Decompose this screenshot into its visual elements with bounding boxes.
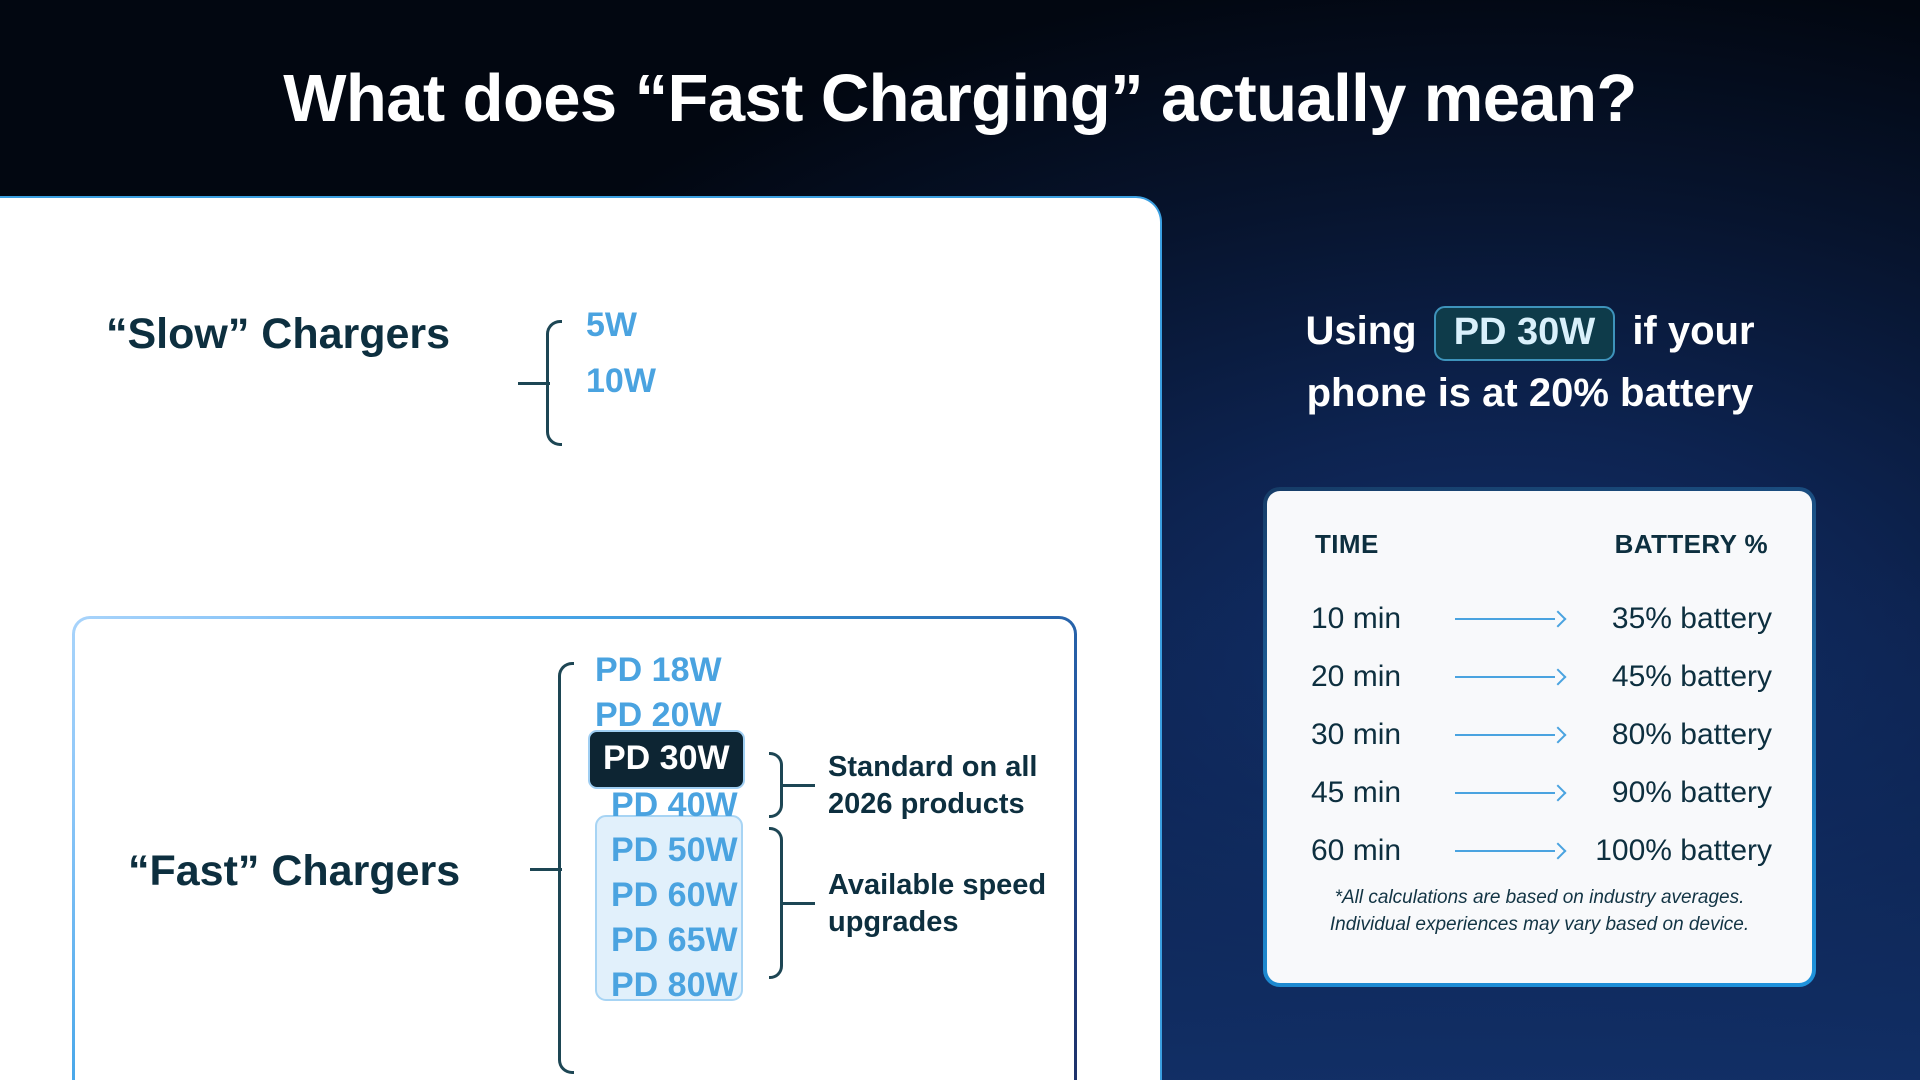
scenario-headline-line1: Using PD 30W if your: [1200, 300, 1860, 362]
arrow-right-icon: [1455, 670, 1564, 684]
list-item: 10W: [586, 364, 656, 398]
arrow-right-icon: [1455, 786, 1564, 800]
standard-note: Standard on all 2026 products: [828, 749, 1037, 823]
column-header-battery: BATTERY %: [1615, 529, 1768, 560]
standard-bracket-stem: [783, 784, 815, 787]
wattage-label: PD 80W: [611, 968, 738, 1002]
wattage-label: PD 50W: [611, 833, 738, 867]
list-item: PD 65W: [611, 917, 755, 962]
list-item: PD 80W: [611, 962, 755, 1007]
wattage-label: PD 60W: [611, 878, 738, 912]
cell-time: 60 min: [1311, 834, 1443, 868]
upgrades-note: Available speed upgrades: [828, 867, 1046, 941]
slow-bracket-icon: [546, 320, 562, 446]
table-row: 20 min 45% battery: [1305, 648, 1774, 706]
fast-chargers-card: “Fast” Chargers PD 18W PD 20W PD 30W PD …: [72, 616, 1077, 1080]
table-footnote: *All calculations are based on industry …: [1267, 884, 1812, 939]
slow-chargers-list: 5W 10W: [586, 308, 656, 420]
arrow-right-icon: [1455, 844, 1564, 858]
cell-time: 20 min: [1311, 660, 1443, 694]
slow-chargers-label: “Slow” Chargers: [106, 310, 450, 359]
upgrades-bracket-icon: [769, 827, 783, 979]
charge-time-table-card: TIME BATTERY % 10 min 35% battery 20 min…: [1263, 487, 1816, 987]
list-item: PD 40W: [611, 782, 755, 827]
table-row: 60 min 100% battery: [1305, 822, 1774, 880]
table-body: 10 min 35% battery 20 min 45% battery 30…: [1305, 590, 1774, 880]
pd-30w-chip: PD 30W: [1434, 306, 1615, 361]
cell-battery: 80% battery: [1576, 718, 1772, 752]
scenario-headline: Using PD 30W if your phone is at 20% bat…: [1200, 300, 1860, 424]
slow-chargers-group: “Slow” Chargers 5W 10W: [0, 258, 1154, 418]
fast-bracket-icon: [558, 662, 574, 1074]
list-item: 5W: [586, 308, 656, 342]
charge-time-table: TIME BATTERY % 10 min 35% battery 20 min…: [1267, 491, 1812, 983]
fast-chargers-label: “Fast” Chargers: [128, 847, 460, 896]
list-item: PD 18W: [595, 647, 755, 692]
table-row: 30 min 80% battery: [1305, 706, 1774, 764]
title-bar: What does “Fast Charging” actually mean?: [0, 0, 1920, 196]
arrow-right-icon: [1455, 728, 1564, 742]
standard-bracket-icon: [769, 752, 783, 818]
fast-chargers-list: PD 18W PD 20W PD 30W PD 40W PD 50W PD 60…: [595, 647, 755, 1007]
wattage-label: PD 18W: [595, 653, 722, 687]
cell-battery: 45% battery: [1576, 660, 1772, 694]
wattage-label: PD 40W: [611, 788, 738, 822]
list-item-highlighted: PD 30W: [595, 737, 755, 782]
pd-30w-pill: PD 30W: [588, 730, 745, 789]
scenario-headline-after: if your: [1632, 309, 1754, 353]
table-row: 45 min 90% battery: [1305, 764, 1774, 822]
cell-time: 45 min: [1311, 776, 1443, 810]
table-row: 10 min 35% battery: [1305, 590, 1774, 648]
arrow-right-icon: [1455, 612, 1564, 626]
cell-battery: 35% battery: [1576, 602, 1772, 636]
cell-battery: 90% battery: [1576, 776, 1772, 810]
cell-time: 30 min: [1311, 718, 1443, 752]
table-header-row: TIME BATTERY %: [1305, 529, 1774, 560]
scenario-headline-before: Using: [1305, 309, 1416, 353]
cell-time: 10 min: [1311, 602, 1443, 636]
list-item: PD 50W: [611, 827, 755, 872]
page-title: What does “Fast Charging” actually mean?: [283, 60, 1636, 137]
fast-chargers-card-inner: “Fast” Chargers PD 18W PD 20W PD 30W PD …: [75, 619, 1074, 1080]
scenario-headline-line2: phone is at 20% battery: [1200, 362, 1860, 424]
cell-battery: 100% battery: [1576, 834, 1772, 868]
list-item: PD 60W: [611, 872, 755, 917]
upgrades-bracket-stem: [783, 902, 815, 905]
chargers-panel: “Slow” Chargers 5W 10W “Fast” Chargers P…: [0, 196, 1162, 1080]
column-header-time: TIME: [1315, 529, 1379, 560]
wattage-label: PD 20W: [595, 698, 722, 732]
wattage-label: PD 65W: [611, 923, 738, 957]
